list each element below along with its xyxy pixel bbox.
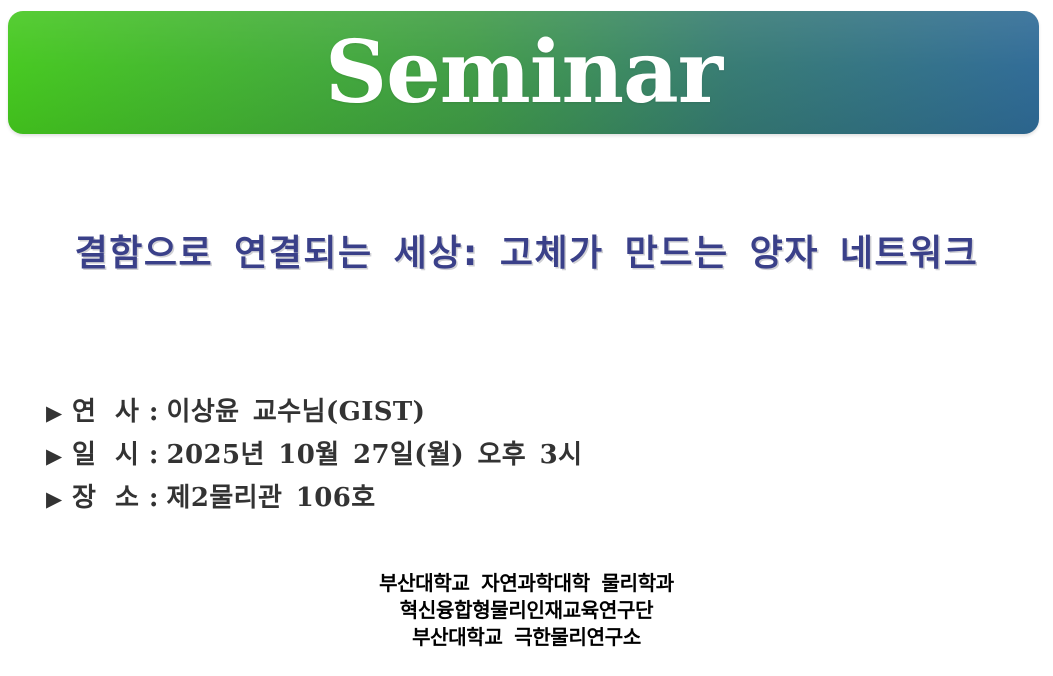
triangle-bullet-icon: ▶ bbox=[46, 392, 72, 433]
seminar-banner: Seminar bbox=[8, 11, 1039, 134]
detail-separator-speaker: : bbox=[141, 392, 167, 433]
detail-label-location: 장 소 bbox=[72, 478, 141, 519]
detail-label-speaker: 연 사 bbox=[72, 392, 141, 433]
talk-title: 결함으로 연결되는 세상: 고체가 만드는 양자 네트워크 bbox=[0, 234, 1053, 274]
detail-label-datetime: 일 시 bbox=[72, 435, 141, 476]
triangle-bullet-icon: ▶ bbox=[46, 478, 72, 519]
footer-line-program: 혁신융합형물리인재교육연구단 bbox=[0, 597, 1053, 624]
triangle-bullet-icon: ▶ bbox=[46, 435, 72, 476]
organizer-footer: 부산대학교 자연과학대학 물리학과 혁신융합형물리인재교육연구단 부산대학교 극… bbox=[0, 570, 1053, 651]
detail-row-datetime: ▶ 일 시 : 2025년 10월 27일(월) 오후 3시 bbox=[46, 435, 582, 476]
detail-value-location: 제2물리관 106호 bbox=[167, 478, 376, 519]
footer-line-department: 부산대학교 자연과학대학 물리학과 bbox=[0, 570, 1053, 597]
detail-value-datetime: 2025년 10월 27일(월) 오후 3시 bbox=[167, 435, 583, 476]
detail-value-speaker: 이상윤 교수님(GIST) bbox=[167, 392, 426, 433]
footer-line-institute: 부산대학교 극한물리연구소 bbox=[0, 624, 1053, 651]
seminar-details: ▶ 연 사 : 이상윤 교수님(GIST) ▶ 일 시 : 2025년 10월 … bbox=[46, 392, 582, 519]
detail-row-location: ▶ 장 소 : 제2물리관 106호 bbox=[46, 478, 582, 519]
detail-separator-location: : bbox=[141, 478, 167, 519]
detail-separator-datetime: : bbox=[141, 435, 167, 476]
detail-row-speaker: ▶ 연 사 : 이상윤 교수님(GIST) bbox=[46, 392, 582, 433]
banner-title: Seminar bbox=[8, 30, 1039, 116]
